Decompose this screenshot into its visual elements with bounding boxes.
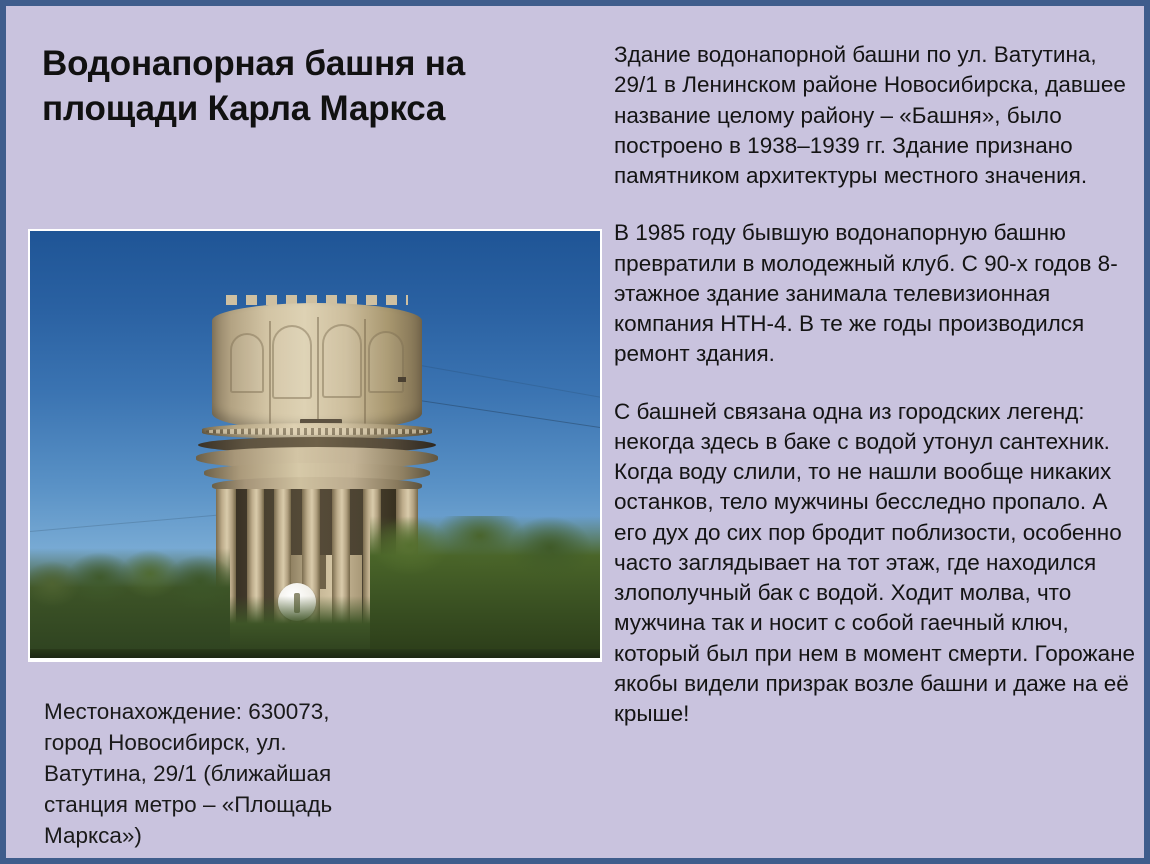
tank-panel — [230, 333, 264, 393]
tree-foliage — [370, 516, 600, 658]
tank-seam — [364, 319, 366, 427]
ground-strip — [30, 649, 600, 658]
body-paragraph-2: В 1985 году бывшую водонапорную башню пр… — [614, 218, 1142, 369]
presentation-slide: Водонапорная башня на площади Карла Марк… — [0, 0, 1150, 864]
water-tower-photograph — [30, 231, 600, 658]
left-column: Водонапорная башня на площади Карла Марк… — [22, 6, 606, 858]
photo-frame — [28, 229, 602, 662]
tower-water-tank — [212, 303, 422, 431]
tank-panel — [368, 331, 404, 393]
photo-caption: Местонахождение: 630073, город Новосибир… — [44, 696, 384, 851]
tank-panel — [272, 325, 312, 399]
tank-panel — [322, 324, 362, 398]
body-paragraph-1: Здание водонапорной башни по ул. Ватутин… — [614, 40, 1142, 191]
cornice-dentils — [206, 428, 428, 435]
tank-seam — [317, 317, 319, 427]
body-paragraph-3: С башней связана одна из городских леген… — [614, 397, 1142, 730]
body-text-column: Здание водонапорной башни по ул. Ватутин… — [614, 40, 1142, 729]
tank-seam — [269, 321, 271, 425]
page-title: Водонапорная башня на площади Карла Марк… — [42, 42, 522, 132]
tank-vent — [398, 377, 406, 382]
tree-foliage — [30, 548, 230, 658]
